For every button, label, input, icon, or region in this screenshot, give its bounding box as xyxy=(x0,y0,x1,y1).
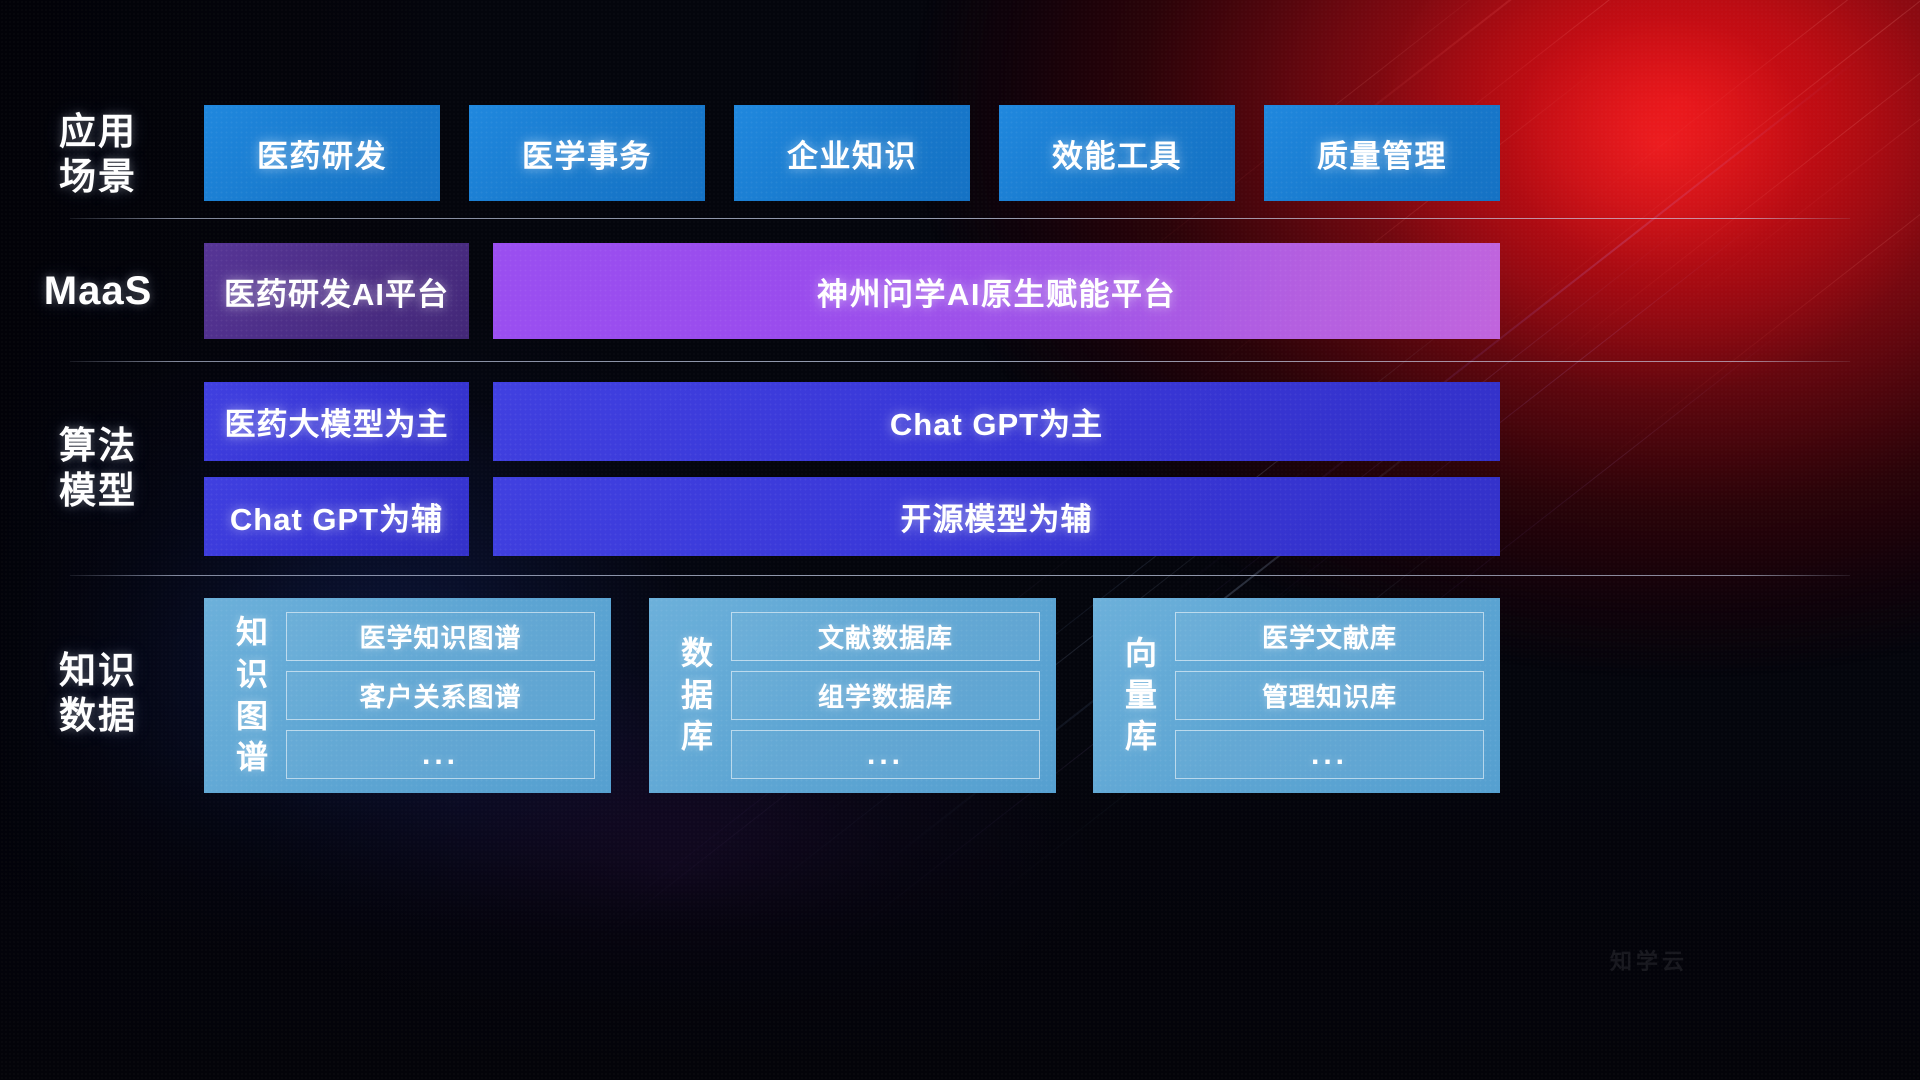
scenario-box-5[interactable]: 质量管理 xyxy=(1264,105,1500,201)
knowledge-card-1-items: 医学知识图谱 客户关系图谱 ... xyxy=(286,612,595,779)
algo-box-chatgpt-aux-label: Chat GPT为辅 xyxy=(230,494,443,539)
kc2-item-1[interactable]: 文献数据库 xyxy=(731,612,1040,661)
kc1-item-3-label: ... xyxy=(422,738,459,772)
knowledge-card-knowledge-graph[interactable]: 知 识 图 谱 医学知识图谱 客户关系图谱 ... xyxy=(204,598,611,793)
kc1-item-2-label: 客户关系图谱 xyxy=(359,677,521,714)
kc1-label-char-1: 知 xyxy=(236,612,268,654)
kc3-item-1-label: 医学文献库 xyxy=(1262,618,1397,655)
kc2-item-2[interactable]: 组学数据库 xyxy=(731,671,1040,720)
algo-box-chatgpt-main-label: Chat GPT为主 xyxy=(890,399,1103,444)
algo-box-opensource-aux-label: 开源模型为辅 xyxy=(901,494,1093,539)
kc3-label-char-2: 量 xyxy=(1125,675,1157,717)
kc2-label-char-2: 据 xyxy=(681,675,713,717)
algo-box-pharma-main-label: 医药大模型为主 xyxy=(225,399,449,444)
algo-box-chatgpt-aux[interactable]: Chat GPT为辅 xyxy=(204,477,469,556)
kc1-label-char-4: 谱 xyxy=(236,737,268,779)
watermark: 知学云 xyxy=(1610,944,1688,976)
knowledge-card-2-vertical-label: 数 据 库 xyxy=(663,612,731,779)
row-label-line-2: 场景 xyxy=(0,154,196,199)
algo-box-chatgpt-main[interactable]: Chat GPT为主 xyxy=(493,382,1500,461)
kc1-item-1[interactable]: 医学知识图谱 xyxy=(286,612,595,661)
kc3-item-3[interactable]: ... xyxy=(1175,730,1484,779)
row-algorithm-models: 算法 模型 医药大模型为主 Chat GPT为主 Chat GPT为辅 开源模型… xyxy=(0,382,1920,555)
kc3-label-char-3: 库 xyxy=(1125,716,1157,758)
kc2-label-char-1: 数 xyxy=(681,633,713,675)
kc3-item-1[interactable]: 医学文献库 xyxy=(1175,612,1484,661)
kc3-item-2-label: 管理知识库 xyxy=(1262,677,1397,714)
row-label-knowledge-data: 知识 数据 xyxy=(0,648,196,738)
kc1-item-2[interactable]: 客户关系图谱 xyxy=(286,671,595,720)
kc3-item-2[interactable]: 管理知识库 xyxy=(1175,671,1484,720)
scenario-box-5-label: 质量管理 xyxy=(1317,131,1447,176)
kc1-item-3[interactable]: ... xyxy=(286,730,595,779)
kc2-item-2-label: 组学数据库 xyxy=(818,677,953,714)
row-application-scenarios: 应用 场景 医药研发 医学事务 企业知识 效能工具 质量管理 xyxy=(0,105,1920,201)
kc2-item-3[interactable]: ... xyxy=(731,730,1040,779)
divider-1 xyxy=(70,218,1850,219)
knowledge-card-vector-store[interactable]: 向 量 库 医学文献库 管理知识库 ... xyxy=(1093,598,1500,793)
row-label-algo-line-2: 模型 xyxy=(0,468,196,513)
kc1-item-1-label: 医学知识图谱 xyxy=(359,618,521,655)
row-label-application-scenarios: 应用 场景 xyxy=(0,109,196,199)
divider-3 xyxy=(70,575,1850,576)
algo-box-opensource-aux[interactable]: 开源模型为辅 xyxy=(493,477,1500,556)
scenario-box-3[interactable]: 企业知识 xyxy=(734,105,970,201)
row-label-kd-line-2: 数据 xyxy=(0,693,196,738)
kc2-item-1-label: 文献数据库 xyxy=(818,618,953,655)
scenario-box-2[interactable]: 医学事务 xyxy=(469,105,705,201)
knowledge-card-2-items: 文献数据库 组学数据库 ... xyxy=(731,612,1040,779)
maas-box-shenzhou-platform[interactable]: 神州问学AI原生赋能平台 xyxy=(493,243,1500,339)
row-maas: MaaS 医药研发AI平台 神州问学AI原生赋能平台 xyxy=(0,243,1920,339)
architecture-diagram: 应用 场景 医药研发 医学事务 企业知识 效能工具 质量管理 MaaS 医药研发… xyxy=(0,0,1920,1080)
scenario-box-1[interactable]: 医药研发 xyxy=(204,105,440,201)
maas-box-shenzhou-platform-label: 神州问学AI原生赋能平台 xyxy=(817,269,1176,314)
kc1-label-char-2: 识 xyxy=(236,654,268,696)
divider-2 xyxy=(70,361,1850,362)
scenario-box-1-label: 医药研发 xyxy=(257,131,387,176)
maas-box-pharma-ai-platform[interactable]: 医药研发AI平台 xyxy=(204,243,469,339)
knowledge-card-1-vertical-label: 知 识 图 谱 xyxy=(218,612,286,779)
row-label-maas: MaaS xyxy=(0,267,196,316)
kc3-label-char-1: 向 xyxy=(1125,633,1157,675)
kc1-label-char-3: 图 xyxy=(236,696,268,738)
algo-box-pharma-main[interactable]: 医药大模型为主 xyxy=(204,382,469,461)
row-label-line-1: 应用 xyxy=(0,109,196,154)
row-label-algorithm-models: 算法 模型 xyxy=(0,423,196,513)
row-label-kd-line-1: 知识 xyxy=(0,648,196,693)
knowledge-card-3-vertical-label: 向 量 库 xyxy=(1107,612,1175,779)
scenario-box-2-label: 医学事务 xyxy=(522,131,652,176)
scenario-box-3-label: 企业知识 xyxy=(787,131,917,176)
scenario-box-4[interactable]: 效能工具 xyxy=(999,105,1235,201)
knowledge-card-3-items: 医学文献库 管理知识库 ... xyxy=(1175,612,1484,779)
kc2-label-char-3: 库 xyxy=(681,716,713,758)
row-knowledge-data: 知识 数据 知 识 图 谱 医学知识图谱 客户关系图谱 ... 数 据 库 xyxy=(0,598,1920,793)
kc3-item-3-label: ... xyxy=(1311,738,1348,772)
maas-box-pharma-ai-platform-label: 医药研发AI平台 xyxy=(224,269,449,314)
row-label-maas-text: MaaS xyxy=(0,267,196,316)
scenario-box-4-label: 效能工具 xyxy=(1052,131,1182,176)
row-label-algo-line-1: 算法 xyxy=(0,423,196,468)
kc2-item-3-label: ... xyxy=(867,738,904,772)
knowledge-card-database[interactable]: 数 据 库 文献数据库 组学数据库 ... xyxy=(649,598,1056,793)
